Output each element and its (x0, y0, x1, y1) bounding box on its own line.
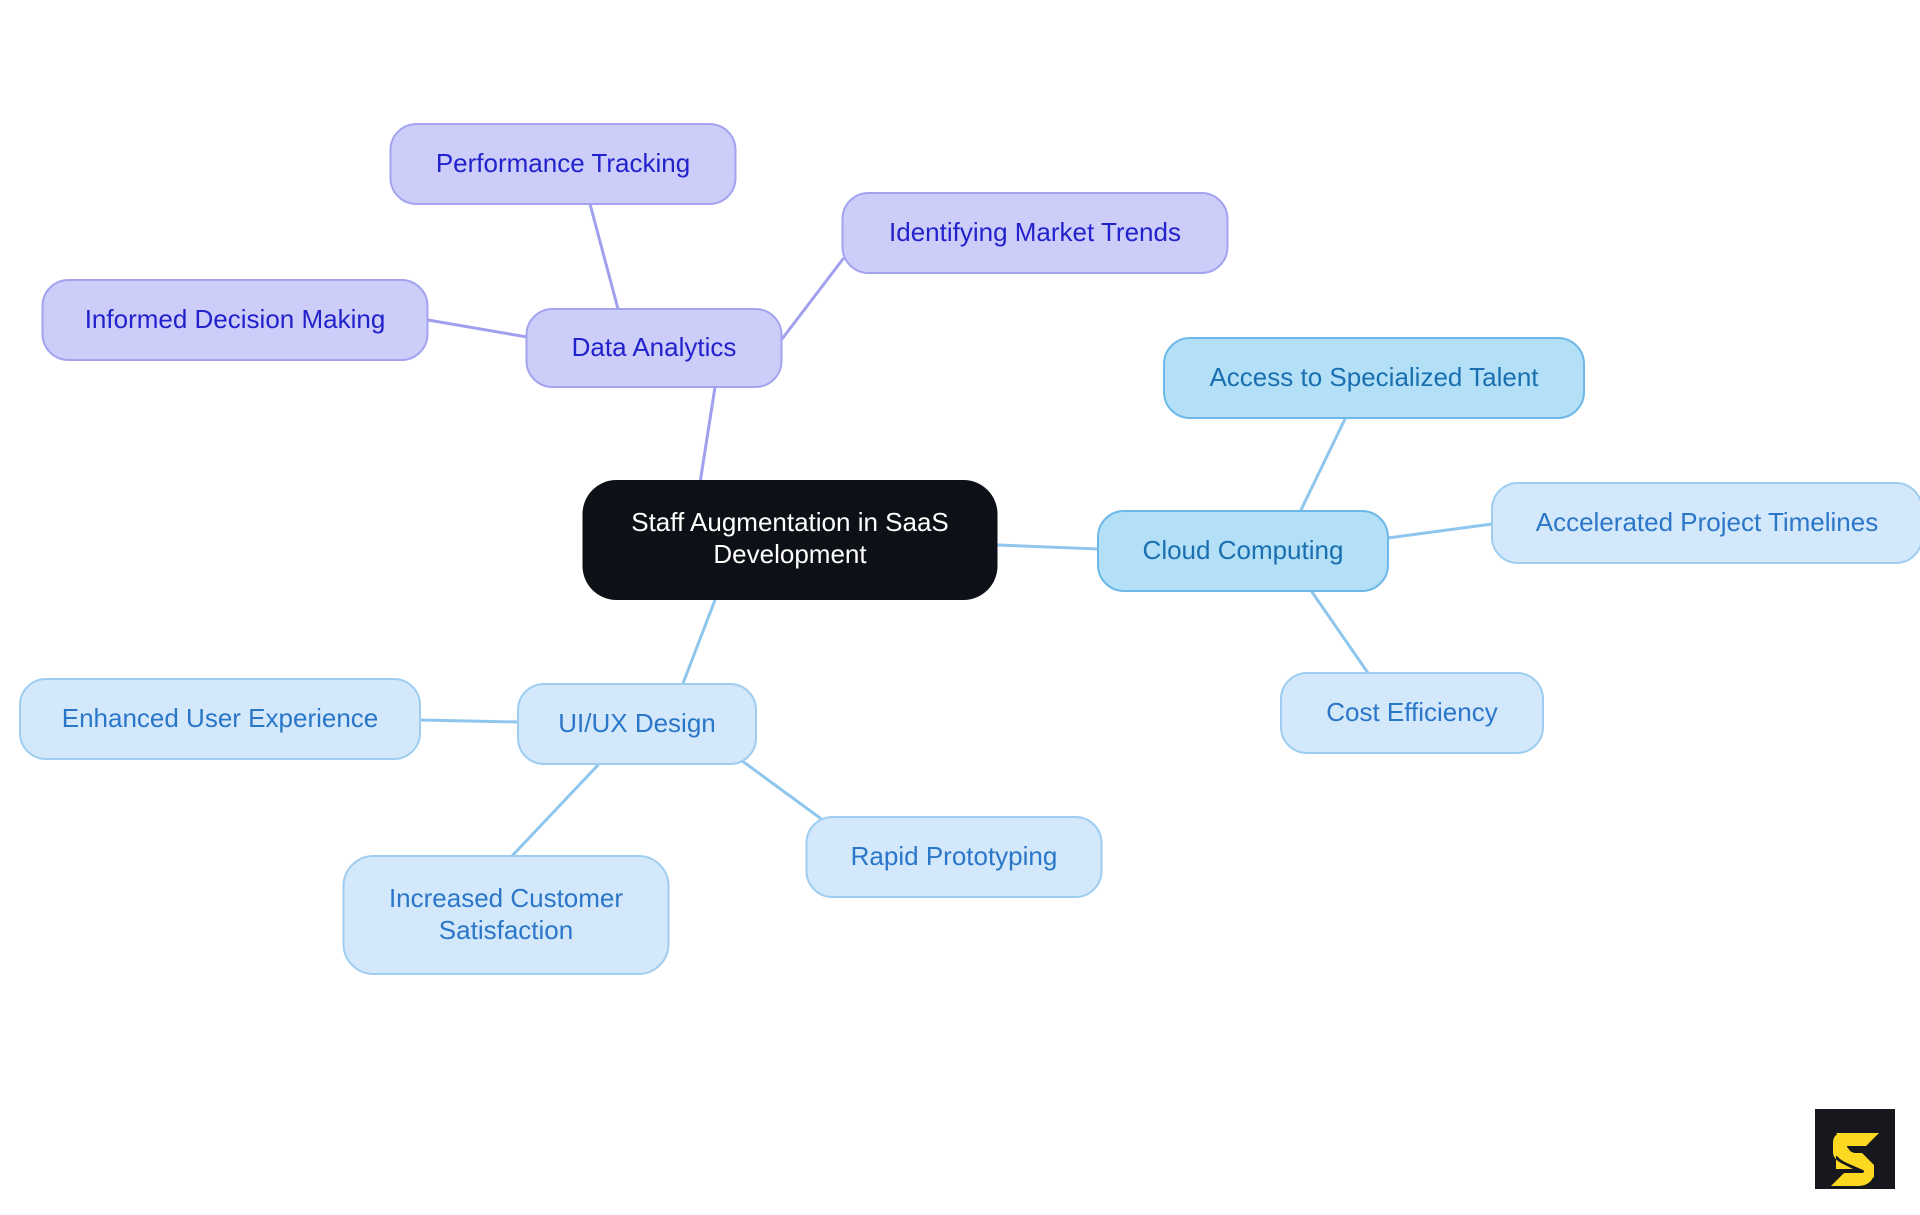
edge-ui-ux-design-to-rapid-prototyping (730, 752, 820, 818)
node-cost-efficiency[interactable]: Cost Efficiency (1281, 673, 1543, 753)
node-increased-customer-satisfaction-label-line1: Increased Customer (389, 883, 623, 913)
node-cloud-computing-label: Cloud Computing (1143, 535, 1344, 565)
node-rapid-prototyping[interactable]: Rapid Prototyping (807, 817, 1102, 897)
edge-root-to-data-analytics (700, 387, 715, 483)
mindmap-canvas: Performance Tracking Identifying Market … (0, 0, 1920, 1215)
node-cloud-computing[interactable]: Cloud Computing (1098, 511, 1388, 591)
node-accelerated-project-timelines[interactable]: Accelerated Project Timelines (1492, 483, 1920, 563)
edge-data-analytics-to-identifying-market-trends (782, 259, 843, 339)
node-ui-ux-design-label: UI/UX Design (558, 708, 716, 738)
edge-ui-ux-design-to-increased-customer-satisfaction (512, 765, 598, 856)
edge-ui-ux-design-to-enhanced-user-experience (420, 720, 518, 722)
node-identifying-market-trends[interactable]: Identifying Market Trends (843, 193, 1228, 273)
node-rapid-prototyping-label: Rapid Prototyping (851, 841, 1058, 871)
edge-cloud-computing-to-access-to-specialized-talent (1300, 419, 1345, 512)
node-informed-decision-making[interactable]: Informed Decision Making (43, 280, 428, 360)
node-access-to-specialized-talent[interactable]: Access to Specialized Talent (1164, 338, 1584, 418)
node-performance-tracking[interactable]: Performance Tracking (391, 124, 736, 204)
node-increased-customer-satisfaction[interactable]: Increased Customer Satisfaction (344, 856, 669, 974)
edge-data-analytics-to-performance-tracking (590, 204, 618, 309)
node-increased-customer-satisfaction-label-line2: Satisfaction (439, 915, 573, 945)
node-ui-ux-design[interactable]: UI/UX Design (518, 684, 756, 764)
edge-root-to-ui-ux-design (682, 600, 715, 686)
node-performance-tracking-label: Performance Tracking (436, 148, 690, 178)
node-enhanced-user-experience[interactable]: Enhanced User Experience (20, 679, 420, 759)
node-root-label-line1: Staff Augmentation in SaaS (631, 507, 949, 537)
node-informed-decision-making-label: Informed Decision Making (85, 304, 386, 334)
s-logo (1815, 1109, 1895, 1189)
node-access-to-specialized-talent-label: Access to Specialized Talent (1209, 362, 1539, 392)
node-identifying-market-trends-label: Identifying Market Trends (889, 217, 1181, 247)
edge-cloud-computing-to-cost-efficiency (1312, 592, 1368, 673)
node-root[interactable]: Staff Augmentation in SaaS Development (583, 480, 998, 600)
node-data-analytics-label: Data Analytics (572, 332, 737, 362)
node-accelerated-project-timelines-label: Accelerated Project Timelines (1536, 507, 1878, 537)
node-root-label-line2: Development (713, 539, 867, 569)
edge-root-to-cloud-computing (998, 545, 1098, 549)
node-data-analytics[interactable]: Data Analytics (527, 309, 782, 387)
mindmap-svg: Performance Tracking Identifying Market … (0, 0, 1920, 1215)
node-enhanced-user-experience-label: Enhanced User Experience (62, 703, 379, 733)
edge-cloud-computing-to-accelerated-project-timelines (1388, 524, 1492, 538)
edge-data-analytics-to-informed-decision-making (428, 320, 527, 337)
node-cost-efficiency-label: Cost Efficiency (1326, 697, 1497, 727)
